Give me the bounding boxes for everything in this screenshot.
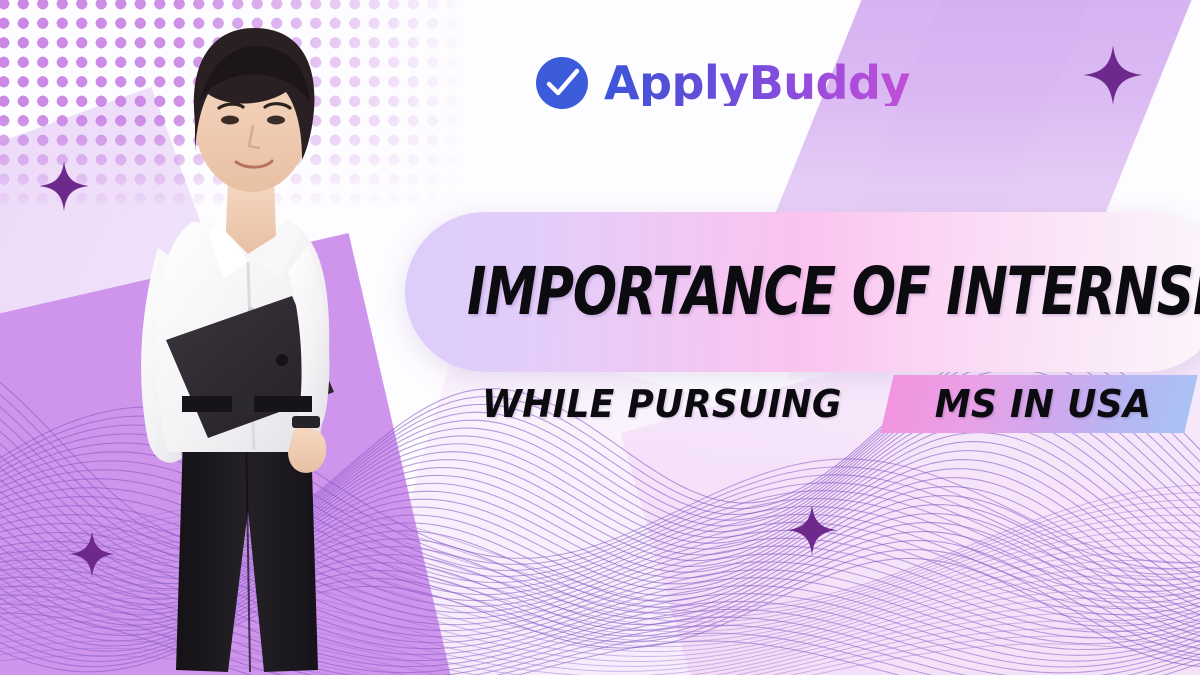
subtitle-highlight-label: MS IN USA [934,382,1151,426]
sparkle-icon-top-right [1082,44,1144,106]
person-photo [96,10,396,675]
subtitle-highlight-chip: MS IN USA [880,375,1197,433]
subtitle-row: WHILE PURSUING MS IN USA [482,375,1191,433]
brand-name: ApplyBuddy [604,60,910,106]
promo-banner: ApplyBuddy IMPORTANCE OF INTERNSHIPS WHI… [0,0,1200,675]
brand-logo[interactable]: ApplyBuddy [534,55,910,111]
sparkle-icon-left-upper [38,160,90,212]
headline-pill: IMPORTANCE OF INTERNSHIPS [405,212,1200,372]
check-circle-icon [534,55,590,111]
page-title: IMPORTANCE OF INTERNSHIPS [467,259,1200,325]
sparkle-icon-center-bottom [786,504,838,556]
subtitle-lead: WHILE PURSUING [482,382,842,426]
